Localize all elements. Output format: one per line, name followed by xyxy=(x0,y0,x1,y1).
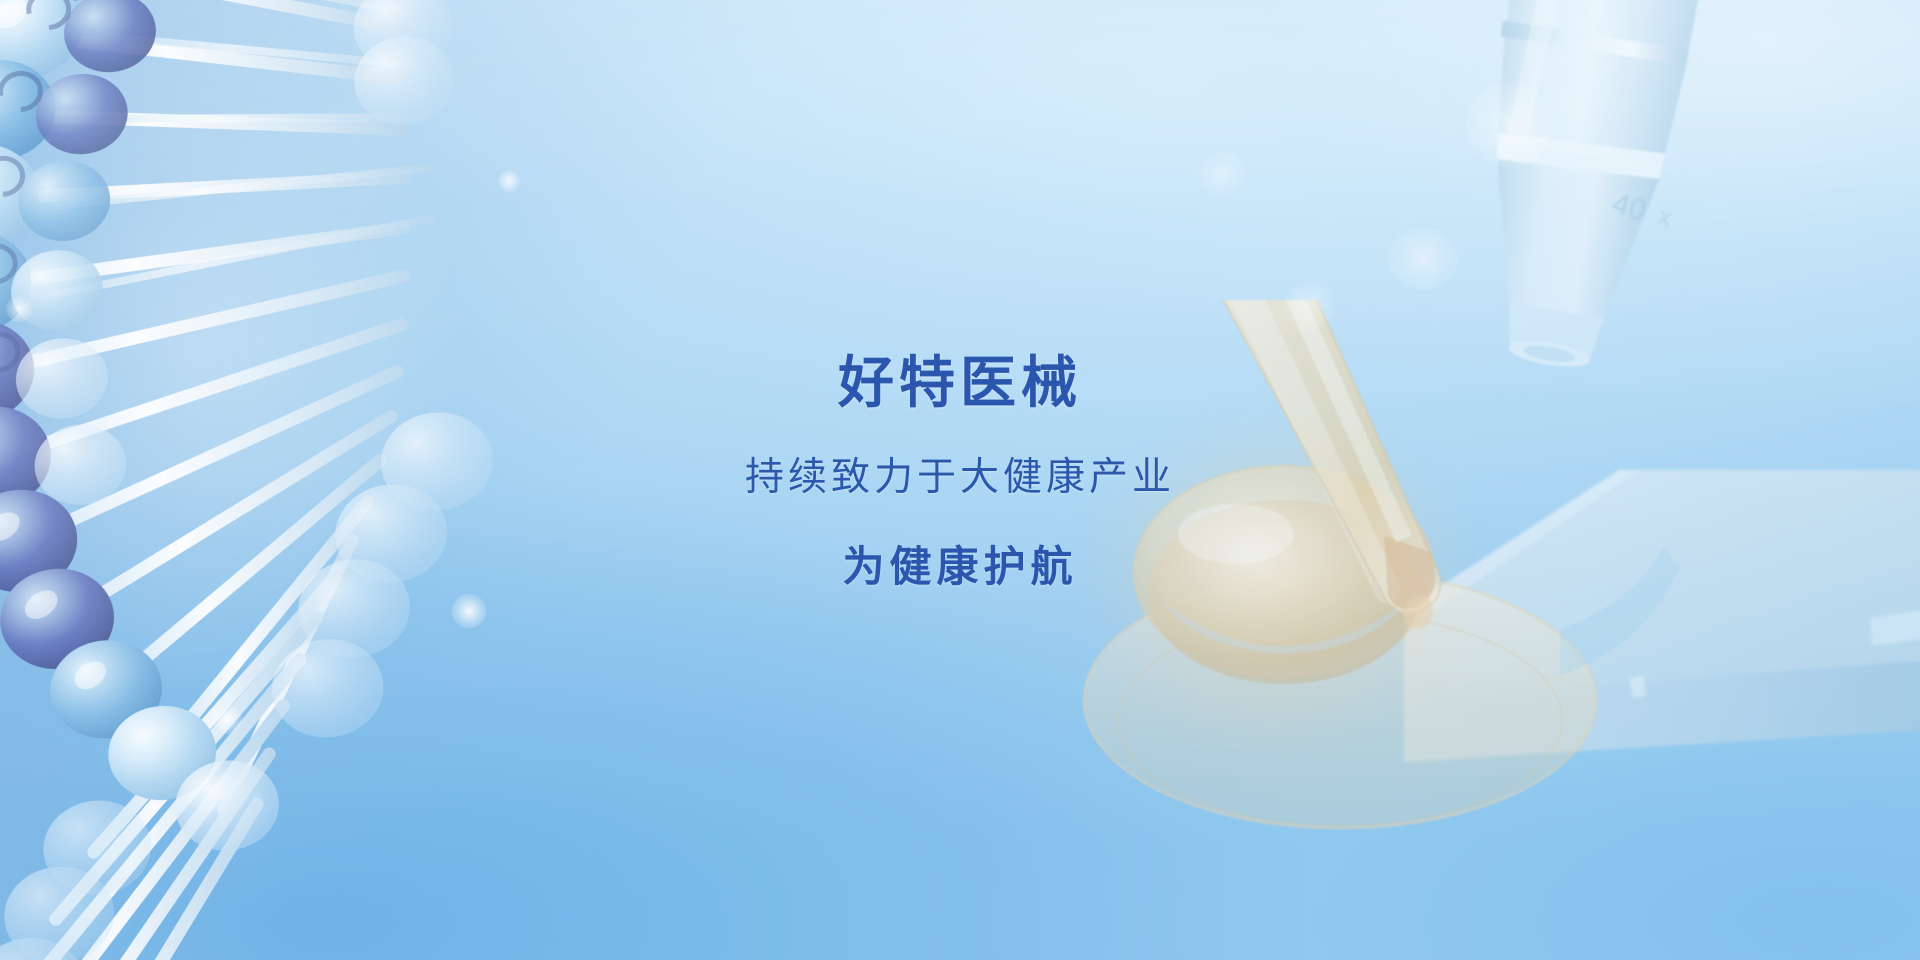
hero-banner: 40 x xyxy=(0,0,1920,960)
banner-slogan: 为健康护航 xyxy=(0,542,1920,592)
hero-text-block: 好特医械 持续致力于大健康产业 为健康护航 xyxy=(0,352,1920,592)
banner-subheadline: 持续致力于大健康产业 xyxy=(0,455,1920,502)
banner-headline: 好特医械 xyxy=(0,352,1920,415)
svg-text:x: x xyxy=(1654,200,1675,232)
